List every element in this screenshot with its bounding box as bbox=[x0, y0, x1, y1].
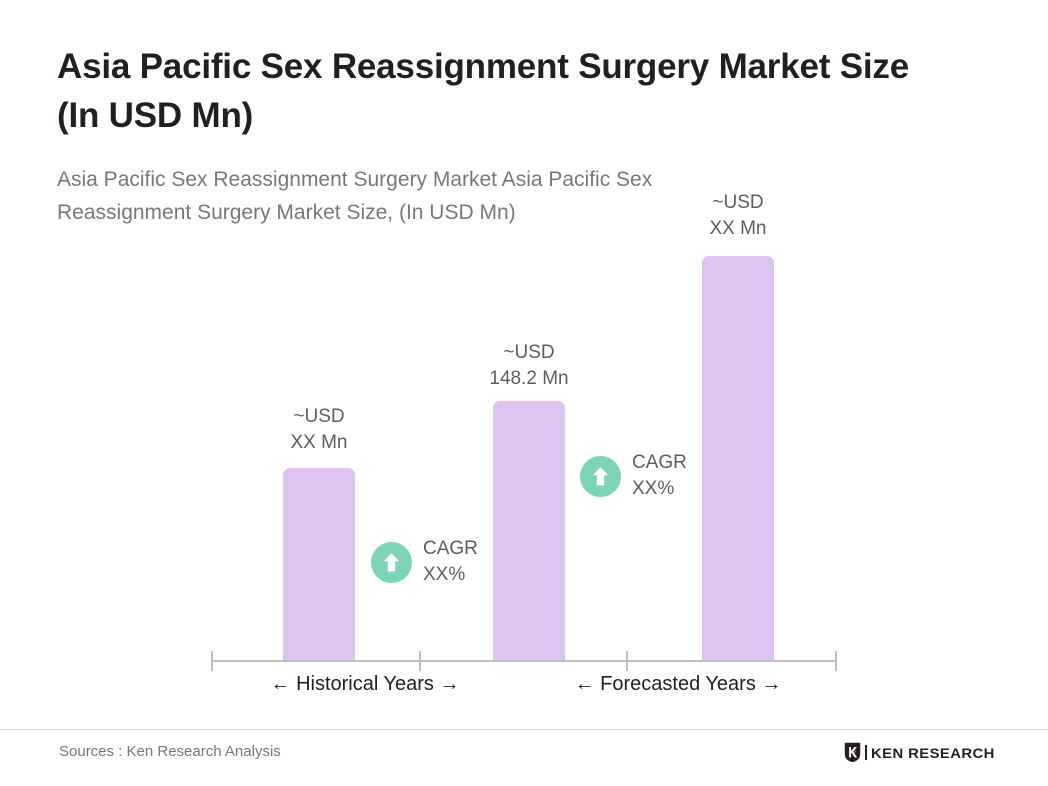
bar-chart: ~USD XX Mn ~USD 148.2 Mn ~USD XX Mn CAGR… bbox=[0, 0, 1048, 720]
cagr-label-2: CAGR XX% bbox=[632, 450, 687, 502]
shield-logo-icon bbox=[844, 742, 861, 763]
cagr-annotation-1: CAGR XX% bbox=[371, 536, 478, 588]
cagr-annotation-2: CAGR XX% bbox=[580, 450, 687, 502]
footer-divider bbox=[0, 729, 1048, 730]
slide-page: Asia Pacific Sex Reassignment Surgery Ma… bbox=[0, 0, 1048, 786]
logo-wordmark: KEN RESEARCH bbox=[871, 745, 995, 761]
axis-tick-start bbox=[211, 651, 213, 671]
bar-value-label-3: ~USD XX Mn bbox=[668, 190, 808, 242]
logo-divider bbox=[865, 745, 867, 760]
cagr-label-1: CAGR XX% bbox=[423, 536, 478, 588]
bar-forecast[interactable] bbox=[702, 256, 774, 661]
bar-historical[interactable] bbox=[283, 468, 355, 661]
bar-base-year[interactable] bbox=[493, 401, 565, 661]
bar-value-label-1: ~USD XX Mn bbox=[249, 404, 389, 456]
x-axis-line bbox=[211, 660, 837, 662]
axis-tick-mid-2 bbox=[626, 651, 628, 671]
arrow-up-icon bbox=[371, 542, 412, 583]
axis-section-forecasted: ← Forecasted Years → bbox=[519, 671, 837, 697]
bar-value-label-2: ~USD 148.2 Mn bbox=[459, 340, 599, 392]
axis-section-historical: ← Historical Years → bbox=[211, 671, 519, 697]
axis-tick-end bbox=[835, 651, 837, 671]
axis-tick-mid-1 bbox=[419, 651, 421, 671]
ken-research-logo: KEN RESEARCH bbox=[844, 742, 988, 763]
sources-label: Sources : Ken Research Analysis bbox=[59, 743, 281, 760]
arrow-up-icon bbox=[580, 456, 621, 497]
